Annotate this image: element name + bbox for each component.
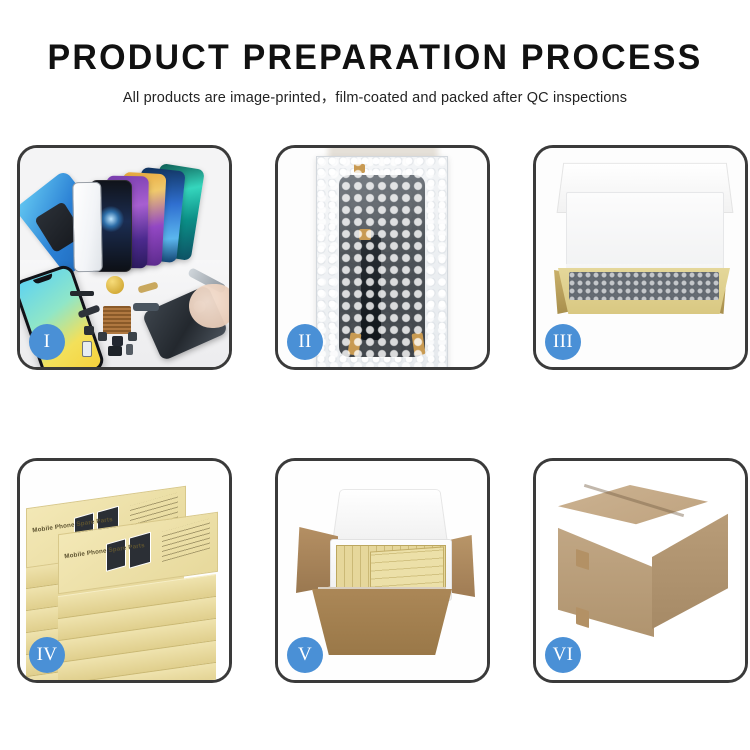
carton-body [312,589,452,655]
flex-cable-part [133,303,159,311]
foam-lid [332,489,448,545]
tape-strip [354,164,365,173]
step-badge-5: V [287,637,323,673]
lcd-screen-graphic [339,175,425,357]
chip-grid-part [103,306,131,334]
speaker-bar-part [70,291,94,296]
step-badge-1: I [29,324,65,360]
step-badge-2: II [287,324,323,360]
lcd-flex-cable [361,235,381,340]
tape-strip [359,229,371,240]
process-step-card-5[interactable]: V [275,458,490,683]
process-step-card-4[interactable]: Mobile Phone Spare Parts Mobile Phone Sp… [17,458,232,683]
bubble-wrapped-contents [569,272,719,300]
page-header: PRODUCT PREPARATION PROCESS All products… [0,0,750,107]
tempered-glass-graphic [72,182,103,272]
process-step-card-2[interactable]: II [275,145,490,370]
bubble-wrap-bag [316,156,448,367]
vibration-motor-part [106,276,124,294]
speaker-part [108,346,122,356]
button-part [126,344,133,355]
step-badge-4: IV [29,637,65,673]
camera-module-part [82,341,92,357]
process-step-card-6[interactable]: VI [533,458,748,683]
step-badge-3: III [545,324,581,360]
small-component-part [128,332,137,341]
hand-graphic [189,284,229,328]
process-step-grid: I II [17,145,748,683]
step-badge-6: VI [545,637,581,673]
small-component-part [84,326,94,335]
process-step-card-3[interactable]: III [533,145,748,370]
page-title: PRODUCT PREPARATION PROCESS [11,40,739,77]
small-component-part [112,336,123,346]
page-subtitle: All products are image-printed，film-coat… [0,86,750,107]
process-step-card-1[interactable]: I [17,145,232,370]
small-component-part [98,332,107,341]
